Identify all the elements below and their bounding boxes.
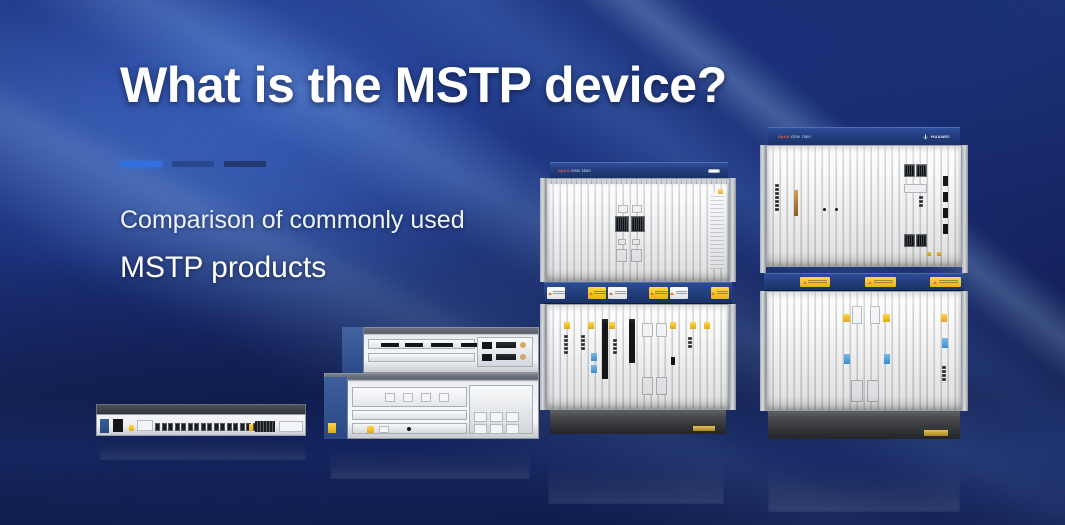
port-column bbox=[688, 337, 692, 348]
rj45-port bbox=[613, 347, 617, 350]
rj45-port bbox=[220, 423, 225, 431]
port-column bbox=[581, 335, 585, 350]
fan-module bbox=[916, 164, 927, 177]
coax-connectors bbox=[794, 190, 798, 216]
rj45-port bbox=[181, 423, 186, 431]
rail-right bbox=[730, 304, 736, 410]
slot-tag bbox=[690, 287, 708, 299]
fan-module bbox=[916, 234, 927, 247]
card-accent bbox=[564, 322, 570, 329]
osn-mid-upper-bay bbox=[540, 178, 736, 282]
port-slot bbox=[405, 343, 423, 347]
rj45-port bbox=[385, 393, 395, 402]
fan-module bbox=[615, 216, 629, 232]
indicator-dot bbox=[823, 208, 826, 211]
rj45-port bbox=[942, 374, 946, 377]
card-bay bbox=[368, 339, 475, 349]
rj45-port bbox=[775, 204, 779, 207]
port-strip bbox=[629, 319, 635, 363]
fan-module bbox=[904, 234, 915, 247]
port-slot bbox=[496, 342, 516, 348]
card-bay bbox=[352, 423, 467, 434]
rj45-port bbox=[775, 196, 779, 199]
card-handle bbox=[870, 306, 880, 324]
port-column bbox=[564, 335, 568, 354]
card-handle bbox=[852, 306, 862, 324]
rj45-port bbox=[581, 343, 585, 346]
optical-module bbox=[942, 338, 948, 348]
port-slot bbox=[671, 357, 675, 365]
port-column bbox=[942, 366, 946, 381]
blank-filler bbox=[642, 323, 653, 337]
rj45-port bbox=[688, 345, 692, 348]
rj45-port bbox=[564, 343, 568, 346]
warning-sticker bbox=[367, 426, 374, 433]
port-slot bbox=[381, 343, 399, 347]
dash-inactive-1[interactable] bbox=[172, 161, 214, 167]
slot-tag bbox=[767, 277, 798, 287]
expansion-slot bbox=[255, 421, 275, 432]
rj45-port bbox=[919, 204, 923, 207]
card-bay bbox=[469, 385, 533, 434]
rj45-port bbox=[564, 347, 568, 350]
card-latch bbox=[867, 380, 879, 402]
slot-tag bbox=[629, 287, 647, 299]
rj45-port bbox=[490, 412, 503, 422]
device-compact-stack bbox=[324, 327, 539, 445]
rj45-port bbox=[240, 423, 245, 431]
optical-module bbox=[884, 354, 890, 364]
rail-right bbox=[730, 178, 736, 282]
rj45-port bbox=[581, 347, 585, 350]
card-bay bbox=[368, 353, 475, 362]
rj45-port bbox=[194, 423, 199, 431]
coax-port bbox=[520, 354, 526, 360]
card-latch bbox=[642, 377, 653, 395]
warning-sticker bbox=[927, 252, 931, 256]
osn-large-header: OptiX OSN 7500 HUAWEI bbox=[768, 127, 960, 145]
osn-large-product-label: OptiX OSN 7500 bbox=[778, 134, 811, 139]
coax-port bbox=[520, 342, 526, 348]
card-latch bbox=[616, 249, 627, 262]
compact-unit-upper bbox=[342, 327, 539, 373]
module-bay bbox=[279, 421, 303, 432]
status-led bbox=[249, 424, 253, 431]
warning-tag bbox=[930, 277, 961, 287]
osn-large-subrack-upper bbox=[764, 273, 964, 291]
rj45-port bbox=[942, 366, 946, 369]
warning-tag bbox=[711, 287, 729, 299]
rj45-port bbox=[188, 423, 193, 431]
rj45-port bbox=[775, 208, 779, 211]
port-slot bbox=[482, 354, 492, 361]
switch-top-cover bbox=[96, 404, 306, 414]
card-bay bbox=[352, 410, 467, 420]
slot-tag bbox=[832, 277, 863, 287]
card-latch bbox=[631, 249, 642, 262]
port-slot bbox=[943, 192, 948, 202]
rj45-port bbox=[581, 335, 585, 338]
device-osn-large: OptiX OSN 7500 HUAWEI bbox=[760, 127, 968, 442]
indicator-dot bbox=[835, 208, 838, 211]
osn-mid-header: OptiX OSN 3500 bbox=[550, 162, 728, 178]
rj45-port bbox=[613, 343, 617, 346]
rj45-port bbox=[613, 339, 617, 342]
port-slot bbox=[482, 342, 492, 349]
rj45-port bbox=[775, 192, 779, 195]
warning-sticker bbox=[937, 252, 941, 256]
device-access-switch bbox=[96, 404, 306, 440]
port-slot bbox=[496, 354, 516, 360]
rj45-port bbox=[919, 196, 923, 199]
blank-filler bbox=[618, 239, 626, 245]
blank-filler bbox=[656, 323, 667, 337]
blank-filler bbox=[632, 239, 640, 245]
osn-large-lower-bay bbox=[760, 291, 968, 411]
optical-module bbox=[844, 354, 850, 364]
card-bay bbox=[477, 337, 533, 367]
rj45-port bbox=[942, 378, 946, 381]
indicator-dot bbox=[407, 427, 411, 431]
osn-mid-card-cage-lower bbox=[546, 304, 730, 410]
port-slot bbox=[943, 208, 948, 218]
dash-active[interactable] bbox=[120, 161, 162, 167]
fiber-connector bbox=[328, 423, 336, 433]
rj45-port bbox=[214, 423, 219, 431]
port-slot bbox=[431, 343, 453, 347]
compact-unit-lower bbox=[324, 373, 539, 439]
unit-side-panel bbox=[324, 377, 348, 439]
rail-right bbox=[962, 291, 968, 411]
card-accent bbox=[588, 322, 594, 329]
rj45-port bbox=[403, 393, 413, 402]
card-latch bbox=[656, 377, 667, 395]
mstp-banner: What is the MSTP device? Comparison of c… bbox=[0, 0, 1065, 525]
rj45-port bbox=[175, 423, 180, 431]
slot-label bbox=[670, 287, 688, 299]
device-osn-mid: OptiX OSN 3500 bbox=[540, 162, 736, 444]
rj45-port bbox=[490, 424, 503, 434]
rj45-port bbox=[775, 200, 779, 203]
card-accent bbox=[690, 322, 696, 329]
rj45-port bbox=[506, 424, 519, 434]
card-bay bbox=[352, 387, 467, 407]
osn-mid-card-cage bbox=[546, 178, 730, 282]
card-accent bbox=[704, 322, 710, 329]
osn-mid-subrack bbox=[544, 282, 732, 304]
blank-filler bbox=[618, 205, 628, 213]
warning-tag bbox=[865, 277, 896, 287]
slot-tag bbox=[567, 287, 585, 299]
card-accent bbox=[941, 314, 947, 322]
plinth-accent bbox=[924, 430, 949, 436]
brand-logo: HUAWEI bbox=[922, 133, 950, 140]
switch-side-bracket bbox=[100, 419, 109, 433]
card-accent bbox=[670, 322, 676, 329]
rj45-port bbox=[227, 423, 232, 431]
osn-large-plinth bbox=[768, 411, 960, 439]
card-accent bbox=[843, 314, 850, 322]
rj45-port bbox=[168, 423, 173, 431]
warning-sticker bbox=[718, 189, 723, 194]
plinth-accent bbox=[693, 426, 716, 431]
slot-label bbox=[547, 287, 565, 299]
port-column-left bbox=[775, 184, 779, 211]
slot-label bbox=[608, 287, 626, 299]
module-bay bbox=[137, 420, 153, 431]
rj45-port bbox=[688, 341, 692, 344]
brand-text: HUAWEI bbox=[931, 134, 950, 139]
rj45-port bbox=[474, 424, 487, 434]
rj45-port bbox=[919, 200, 923, 203]
blank-filler bbox=[632, 205, 642, 213]
huawei-logo-icon bbox=[922, 133, 929, 140]
rj45-port bbox=[379, 426, 389, 433]
rj45-port bbox=[474, 412, 487, 422]
slot-tag bbox=[898, 277, 929, 287]
vent-strip bbox=[547, 179, 729, 184]
rj45-port bbox=[421, 393, 431, 402]
rj45-port bbox=[688, 337, 692, 340]
rail-right bbox=[962, 145, 968, 273]
osn-large-upper-bay bbox=[760, 145, 968, 273]
rj45-port bbox=[162, 423, 167, 431]
port-slot bbox=[943, 224, 948, 234]
port-column-right bbox=[919, 196, 923, 207]
rj45-port bbox=[581, 339, 585, 342]
page-title: What is the MSTP device? bbox=[120, 58, 680, 113]
rj45-port bbox=[775, 188, 779, 191]
osn-mid-product-label: OptiX OSN 3500 bbox=[558, 168, 591, 173]
osn-large-card-cage-lower bbox=[766, 291, 962, 411]
rj45-port bbox=[201, 423, 206, 431]
optical-module bbox=[591, 365, 597, 373]
card-latch bbox=[851, 380, 863, 402]
rj45-port bbox=[233, 423, 238, 431]
led-matrix bbox=[710, 193, 724, 269]
warning-sticker bbox=[129, 425, 134, 431]
rj45-port bbox=[613, 351, 617, 354]
osn-large-card-cage-upper bbox=[766, 145, 962, 267]
header-indicator bbox=[708, 169, 720, 173]
warning-tag bbox=[649, 287, 667, 299]
port-strip bbox=[602, 319, 608, 379]
blank-filler bbox=[904, 184, 927, 193]
port-slot bbox=[943, 176, 948, 186]
fan-module bbox=[904, 164, 915, 177]
switch-faceplate bbox=[96, 414, 306, 436]
rj45-port bbox=[942, 370, 946, 373]
rj45-port bbox=[506, 412, 519, 422]
card-accent bbox=[883, 314, 890, 322]
osn-mid-plinth bbox=[550, 410, 726, 434]
dash-inactive-2[interactable] bbox=[224, 161, 266, 167]
rj45-port bbox=[775, 184, 779, 187]
rj45-port bbox=[564, 339, 568, 342]
rj45-port bbox=[155, 423, 160, 431]
osn-mid-lower-bay bbox=[540, 304, 736, 410]
console-port bbox=[113, 419, 123, 432]
rj45-port bbox=[439, 393, 449, 402]
rj45-port bbox=[564, 335, 568, 338]
warning-tag bbox=[588, 287, 606, 299]
warning-tag bbox=[800, 277, 831, 287]
rj45-port-row bbox=[155, 423, 258, 431]
rj45-port bbox=[564, 351, 568, 354]
card-accent bbox=[609, 322, 615, 329]
port-column bbox=[613, 339, 617, 354]
rj45-port bbox=[207, 423, 212, 431]
optical-module bbox=[591, 353, 597, 361]
fan-module bbox=[631, 216, 645, 232]
unit-side-panel bbox=[342, 327, 364, 373]
